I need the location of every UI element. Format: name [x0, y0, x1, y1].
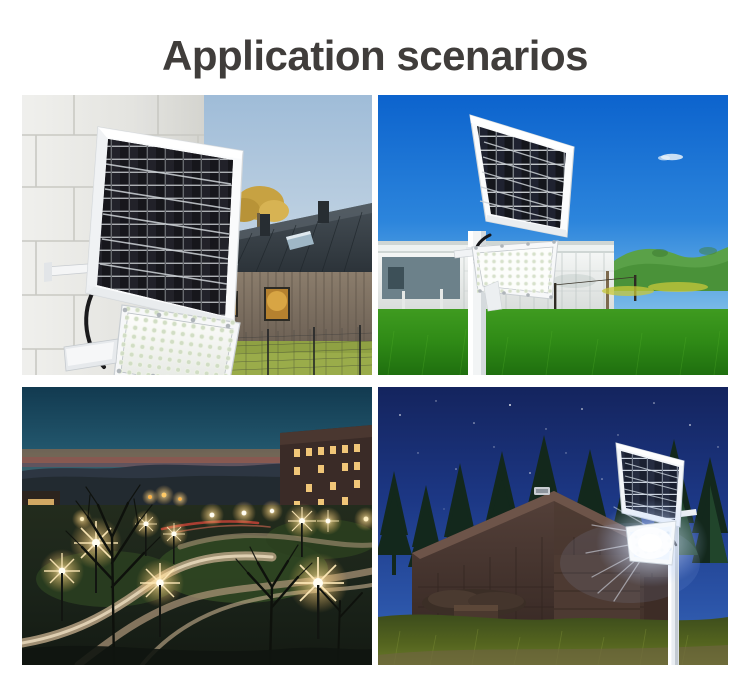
- barn-night-solar-light-illustration: [378, 387, 728, 665]
- street-lamp: [172, 491, 188, 507]
- application-scenarios-page: Application scenarios: [0, 0, 750, 693]
- scenario-photo-barn-night[interactable]: [378, 387, 728, 665]
- solar-panel: [86, 127, 243, 327]
- street-lamp: [261, 500, 283, 522]
- scenario-photo-wall-mounted[interactable]: [22, 95, 372, 375]
- page-title: Application scenarios: [0, 30, 750, 82]
- street-lamp: [142, 489, 158, 505]
- scenario-image-grid: [22, 95, 728, 665]
- street-lamp: [232, 501, 256, 525]
- wall-mounted-solar-flood-light-illustration: [22, 95, 372, 375]
- pole-mounted-solar-light-farm-illustration: [378, 95, 728, 375]
- campus-street-lights-dusk-illustration: [22, 387, 372, 665]
- street-lamp: [314, 507, 342, 535]
- scenario-photo-pole-farm[interactable]: [378, 95, 728, 375]
- scenario-photo-campus-dusk[interactable]: [22, 387, 372, 665]
- street-lamp: [200, 503, 224, 527]
